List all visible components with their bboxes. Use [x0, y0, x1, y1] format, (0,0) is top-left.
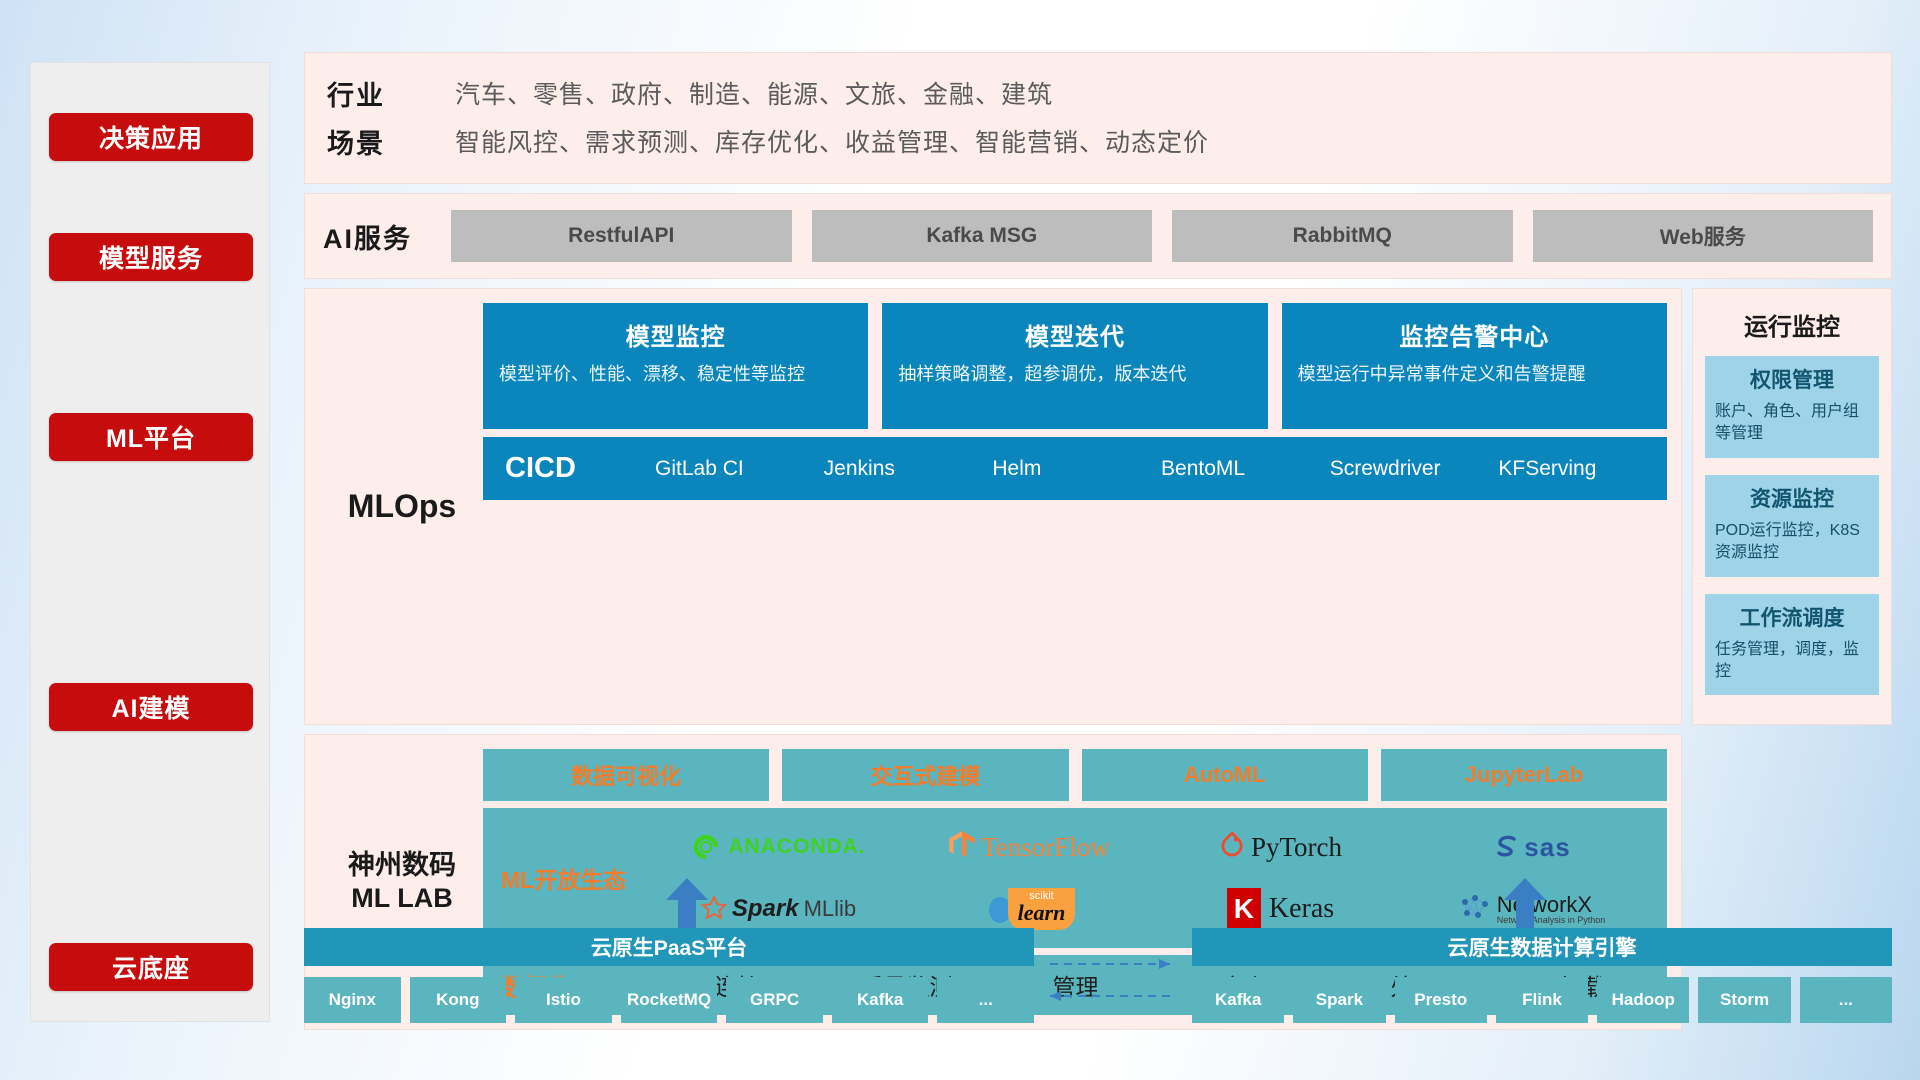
rail-item-cloud-base[interactable]: 云底座 [49, 943, 253, 991]
industry-label: 行业 [327, 74, 455, 113]
tech-chip-storm[interactable]: Storm [1698, 977, 1790, 1023]
cicd-item-bentoml[interactable]: BentoML [1161, 457, 1330, 480]
card-title: 模型监控 [499, 317, 852, 352]
monitor-card-title: 资源监控 [1715, 483, 1869, 513]
tech-chip-more-left[interactable]: ... [937, 977, 1034, 1023]
scenario-label: 场景 [327, 122, 455, 161]
service-chip-web[interactable]: Web服务 [1533, 210, 1874, 262]
up-arrow-left-icon [664, 878, 710, 928]
pytorch-logo-text: PyTorch [1251, 832, 1342, 863]
industry-row: 行业 汽车、零售、政府、制造、能源、文旅、金融、建筑 [327, 69, 1881, 117]
tech-chip-hadoop[interactable]: Hadoop [1597, 977, 1689, 1023]
anaconda-mark-icon [691, 832, 721, 862]
arrowhead-left [1050, 991, 1061, 1001]
monitor-card-workflow[interactable]: 工作流调度 任务管理，调度，监控 [1705, 594, 1879, 696]
tab-interactive-modeling[interactable]: 交互式建模 [782, 749, 1068, 801]
card-title: 模型迭代 [898, 317, 1251, 352]
tech-chip-spark[interactable]: Spark [1293, 977, 1385, 1023]
cicd-bar: CICD GitLab CI Jenkins Helm BentoML Scre… [483, 437, 1667, 500]
architecture-diagram: 决策应用 模型服务 ML平台 AI建模 云底座 行业 汽车、零售、政府、制造、能… [0, 0, 1920, 1080]
cloud-paas-group: 云原生PaaS平台 Nginx Kong Istio RocketMQ GRPC… [304, 928, 1034, 1023]
mlops-row: MLOps 模型监控 模型评价、性能、漂移、稳定性等监控 模型迭代 抽样策略调整… [304, 288, 1892, 725]
tech-chip-grpc[interactable]: GRPC [726, 977, 823, 1023]
ai-service-band: AI服务 RestfulAPI Kafka MSG RabbitMQ Web服务 [304, 193, 1892, 279]
monitor-card-permission[interactable]: 权限管理 账户、角色、用户组等管理 [1705, 356, 1879, 458]
tech-chip-presto[interactable]: Presto [1395, 977, 1487, 1023]
tech-chip-kong[interactable]: Kong [410, 977, 507, 1023]
sas-logo: sas [1492, 832, 1570, 863]
runtime-monitor-title: 运行监控 [1705, 299, 1879, 356]
monitor-card-resource[interactable]: 资源监控 POD运行监控，K8S资源监控 [1705, 475, 1879, 577]
sas-logo-text: sas [1524, 832, 1570, 863]
tech-chip-istio[interactable]: Istio [515, 977, 612, 1023]
pytorch-logo: PyTorch [1219, 832, 1342, 863]
cicd-item-helm[interactable]: Helm [992, 457, 1161, 480]
cicd-item-kfserving[interactable]: KFServing [1498, 457, 1667, 480]
card-title: 监控告警中心 [1298, 317, 1651, 352]
rail-item-ml-platform[interactable]: ML平台 [49, 413, 253, 461]
cloud-paas-title: 云原生PaaS平台 [304, 928, 1034, 966]
tensorflow-logo-text: TensorFlow [981, 832, 1110, 863]
industry-value: 汽车、零售、政府、制造、能源、文旅、金融、建筑 [455, 75, 1053, 111]
cloud-paas-chips: Nginx Kong Istio RocketMQ GRPC Kafka ... [304, 977, 1034, 1023]
service-chip-kafka-msg[interactable]: Kafka MSG [812, 210, 1153, 262]
cloud-base-row: 云原生PaaS平台 Nginx Kong Istio RocketMQ GRPC… [304, 888, 1892, 1030]
sas-mark-icon [1492, 832, 1522, 862]
mlops-card-alert-center[interactable]: 监控告警中心 模型运行中异常事件定义和告警提醒 [1282, 303, 1667, 429]
service-chip-restfulapi[interactable]: RestfulAPI [451, 210, 792, 262]
application-band: 行业 汽车、零售、政府、制造、能源、文旅、金融、建筑 场景 智能风控、需求预测、… [304, 52, 1892, 184]
cicd-item-list: GitLab CI Jenkins Helm BentoML Screwdriv… [655, 457, 1667, 480]
mlops-card-model-iteration[interactable]: 模型迭代 抽样策略调整，超参调优，版本迭代 [882, 303, 1267, 429]
cloud-compute-title: 云原生数据计算引擎 [1192, 928, 1892, 966]
tech-chip-nginx[interactable]: Nginx [304, 977, 401, 1023]
scenario-value: 智能风控、需求预测、库存优化、收益管理、智能营销、动态定价 [455, 123, 1209, 159]
monitor-card-desc: 任务管理，调度，监控 [1715, 639, 1869, 684]
monitor-card-desc: 账户、角色、用户组等管理 [1715, 401, 1869, 446]
tab-data-visualization[interactable]: 数据可视化 [483, 749, 769, 801]
tensorflow-mark-icon [949, 831, 975, 863]
tab-jupyterlab[interactable]: JupyterLab [1381, 749, 1667, 801]
mlops-card-list: 模型监控 模型评价、性能、漂移、稳定性等监控 模型迭代 抽样策略调整，超参调优，… [483, 303, 1667, 429]
ml-lab-label-line1: 神州数码 [348, 849, 456, 883]
mlops-band: MLOps 模型监控 模型评价、性能、漂移、稳定性等监控 模型迭代 抽样策略调整… [304, 288, 1682, 725]
anaconda-logo: ANACONDA. [691, 832, 865, 862]
service-chip-rabbitmq[interactable]: RabbitMQ [1172, 210, 1513, 262]
mlops-card-model-monitoring[interactable]: 模型监控 模型评价、性能、漂移、稳定性等监控 [483, 303, 868, 429]
monitor-card-title: 工作流调度 [1715, 602, 1869, 632]
runtime-monitor-panel: 运行监控 权限管理 账户、角色、用户组等管理 资源监控 POD运行监控，K8S资… [1692, 288, 1892, 725]
tech-chip-rocketmq[interactable]: RocketMQ [621, 977, 718, 1023]
cloud-compute-group: 云原生数据计算引擎 Kafka Spark Presto Flink Hadoo… [1192, 928, 1892, 1023]
ml-lab-tab-list: 数据可视化 交互式建模 AutoML JupyterLab [483, 749, 1667, 801]
tab-automl[interactable]: AutoML [1082, 749, 1368, 801]
ai-service-list: RestfulAPI Kafka MSG RabbitMQ Web服务 [451, 210, 1873, 262]
monitor-card-title: 权限管理 [1715, 364, 1869, 394]
scenario-row: 场景 智能风控、需求预测、库存优化、收益管理、智能营销、动态定价 [327, 117, 1881, 165]
cicd-title: CICD [505, 452, 655, 485]
rail-item-decision-app[interactable]: 决策应用 [49, 113, 253, 161]
tensorflow-logo: TensorFlow [949, 831, 1110, 863]
cicd-item-jenkins[interactable]: Jenkins [824, 457, 993, 480]
pytorch-flame-icon [1219, 832, 1245, 862]
tech-chip-kafka-compute[interactable]: Kafka [1192, 977, 1284, 1023]
card-desc: 模型评价、性能、漂移、稳定性等监控 [499, 362, 852, 386]
card-desc: 抽样策略调整，超参调优，版本迭代 [898, 362, 1251, 386]
monitor-card-desc: POD运行监控，K8S资源监控 [1715, 520, 1869, 565]
rail-item-model-service[interactable]: 模型服务 [49, 233, 253, 281]
rail-item-ai-modeling[interactable]: AI建模 [49, 683, 253, 731]
card-desc: 模型运行中异常事件定义和告警提醒 [1298, 362, 1651, 386]
ai-service-label: AI服务 [323, 217, 451, 256]
tech-chip-flink[interactable]: Flink [1496, 977, 1588, 1023]
mlops-content: 模型监控 模型评价、性能、漂移、稳定性等监控 模型迭代 抽样策略调整，超参调优，… [483, 303, 1667, 710]
cicd-item-gitlab-ci[interactable]: GitLab CI [655, 457, 824, 480]
up-arrow-right-icon [1502, 878, 1548, 928]
tech-chip-kafka-paas[interactable]: Kafka [832, 977, 929, 1023]
layer-rail: 决策应用 模型服务 ML平台 AI建模 云底座 [30, 62, 270, 1022]
arrowhead-right [1159, 959, 1170, 969]
cicd-item-screwdriver[interactable]: Screwdriver [1330, 457, 1499, 480]
anaconda-logo-text: ANACONDA. [728, 835, 865, 859]
dashed-connectors [1044, 954, 1184, 1010]
cloud-compute-chips: Kafka Spark Presto Flink Hadoop Storm ..… [1192, 977, 1892, 1023]
mlops-label: MLOps [321, 303, 483, 710]
tech-chip-more-right[interactable]: ... [1800, 977, 1892, 1023]
